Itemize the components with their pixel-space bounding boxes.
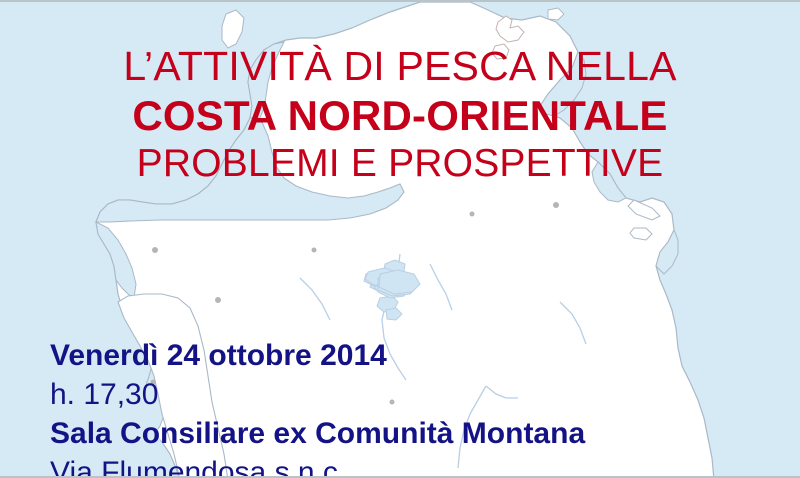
poster-title: L’ATTIVITÀ DI PESCA NELLA COSTA NORD-ORI… [0, 46, 800, 183]
title-line-3: PROBLEMI E PROSPETTIVE [0, 144, 800, 183]
title-line-1: L’ATTIVITÀ DI PESCA NELLA [0, 46, 800, 95]
event-venue: Sala Consiliare ex Comunità Montana [50, 419, 585, 458]
poster-text-layer: L’ATTIVITÀ DI PESCA NELLA COSTA NORD-ORI… [0, 2, 800, 478]
event-poster: L’ATTIVITÀ DI PESCA NELLA COSTA NORD-ORI… [0, 0, 800, 478]
event-date: Venerdì 24 ottobre 2014 [50, 341, 585, 380]
event-details: Venerdì 24 ottobre 2014 h. 17,30 Sala Co… [50, 341, 585, 478]
title-line-2: COSTA NORD-ORIENTALE [0, 95, 800, 144]
event-time: h. 17,30 [50, 380, 585, 419]
event-address: Via Flumendosa s.n.c. [50, 458, 585, 478]
